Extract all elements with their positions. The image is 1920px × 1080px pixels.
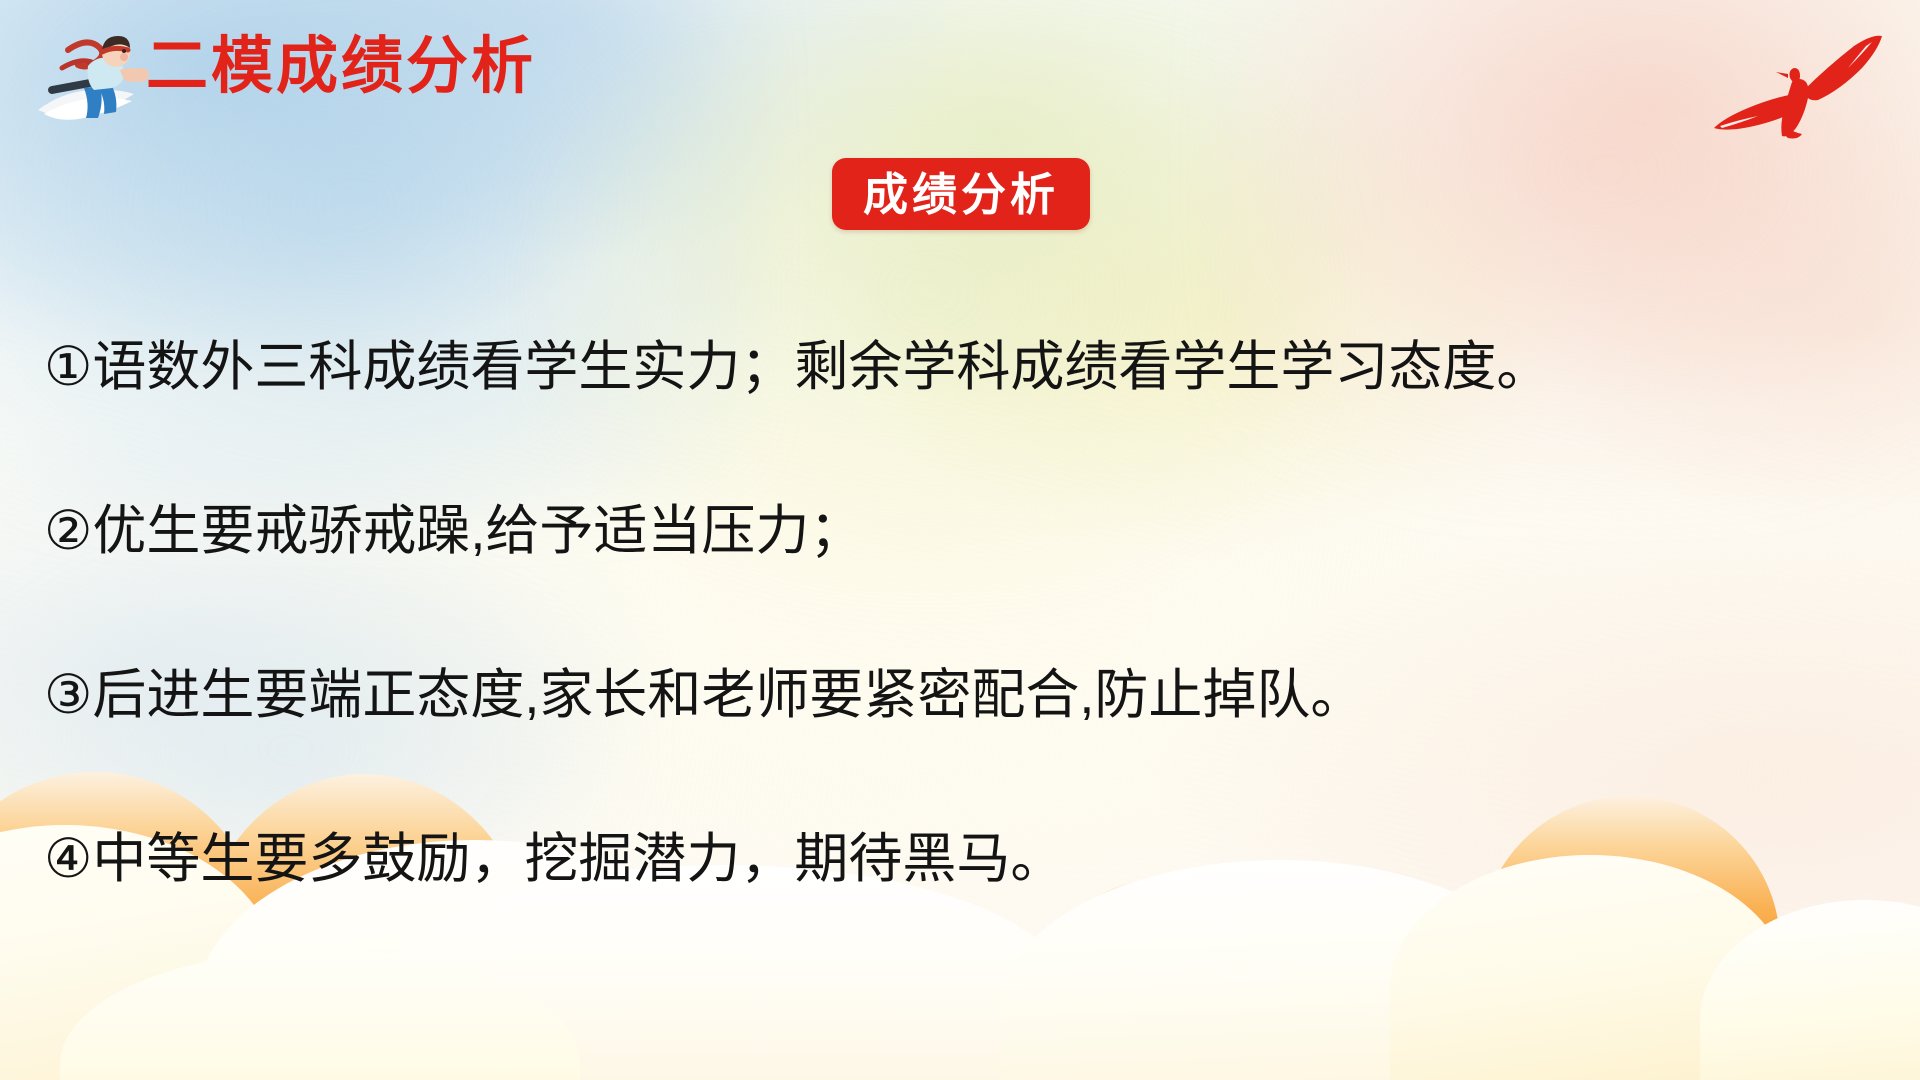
red-bird-logo-icon — [1706, 24, 1896, 144]
content-list: ①语数外三科成绩看学生实力；剩余学科成绩看学生学习态度。 ②优生要戒骄戒躁,给予… — [44, 340, 1880, 886]
page-title: 二模成绩分析 — [146, 36, 536, 98]
list-item: ②优生要戒骄戒躁,给予适当压力； — [44, 504, 1880, 558]
section-badge: 成绩分析 — [832, 158, 1090, 230]
list-item: ③后进生要端正态度,家长和老师要紧密配合,防止掉队。 — [44, 668, 1880, 722]
section-badge-label: 成绩分析 — [863, 172, 1059, 217]
list-item: ④中等生要多鼓励，挖掘潜力，期待黑马。 — [44, 832, 1880, 886]
slide-canvas: 二模成绩分析 成绩分析 ①语数外三科成绩看学生实力；剩余学科成绩看学生学习态度。… — [0, 0, 1920, 1080]
student-flying-icon — [34, 22, 152, 130]
list-item: ①语数外三科成绩看学生实力；剩余学科成绩看学生学习态度。 — [44, 340, 1880, 394]
